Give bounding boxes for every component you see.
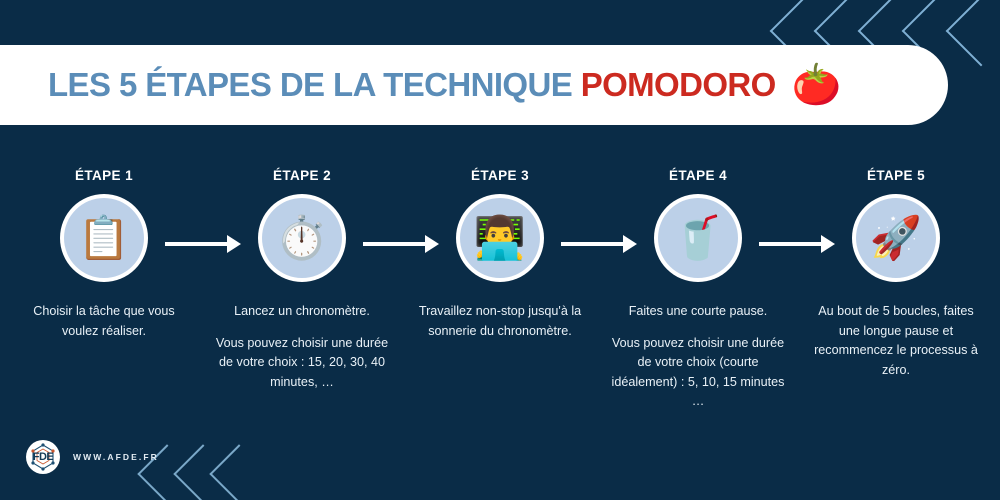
step-icon-circle: ⏱️	[258, 194, 346, 282]
arrow-right-icon	[561, 242, 624, 246]
step-body: Choisir la tâche que vous voulez réalise…	[16, 302, 192, 341]
step-item: ÉTAPE 2 ⏱️ Lancez un chronomètre. Vous p…	[203, 168, 401, 392]
footer: FDE WWW.AFDE.FR	[26, 440, 159, 474]
clipboard-icon: 📋	[78, 217, 130, 259]
afde-logo: FDE	[26, 440, 60, 474]
steps-row: ÉTAPE 1 📋 Choisir la tâche que vous voul…	[0, 168, 1000, 412]
step-text: Travaillez non-stop jusqu'à la sonnerie …	[412, 302, 588, 341]
step-label: ÉTAPE 5	[867, 168, 925, 183]
step-text: Faites une courte pause.	[610, 302, 786, 322]
soda-can-icon: 🥤	[672, 217, 724, 259]
page-title-main: LES 5 ÉTAPES DE LA TECHNIQUE	[48, 66, 581, 103]
logo-text: FDE	[33, 451, 54, 463]
step-item: ÉTAPE 5 🚀 Au bout de 5 boucles, faites u…	[797, 168, 995, 380]
infographic-canvas: LES 5 ÉTAPES DE LA TECHNIQUE POMODORO 🍅 …	[0, 0, 1000, 500]
step-icon-circle: 📋	[60, 194, 148, 282]
step-body: Au bout de 5 boucles, faites une longue …	[808, 302, 984, 380]
step-text: Au bout de 5 boucles, faites une longue …	[808, 302, 984, 380]
step-item: ÉTAPE 1 📋 Choisir la tâche que vous voul…	[5, 168, 203, 341]
step-item: ÉTAPE 3 👨‍💻 Travaillez non-stop jusqu'à …	[401, 168, 599, 341]
title-banner: LES 5 ÉTAPES DE LA TECHNIQUE POMODORO 🍅	[0, 45, 948, 125]
step-text: Vous pouvez choisir une durée de votre c…	[214, 334, 390, 393]
step-body: Lancez un chronomètre. Vous pouvez chois…	[214, 302, 390, 392]
step-icon-circle: 👨‍💻	[456, 194, 544, 282]
tomato-icon: 🍅	[792, 65, 842, 105]
arrow-right-icon	[363, 242, 426, 246]
chevron-left-icon	[948, 0, 1000, 80]
step-text: Choisir la tâche que vous voulez réalise…	[16, 302, 192, 341]
chevron-left-icon	[175, 442, 227, 500]
stopwatch-icon: ⏱️	[276, 217, 328, 259]
step-body: Travaillez non-stop jusqu'à la sonnerie …	[412, 302, 588, 341]
step-body: Faites une courte pause. Vous pouvez cho…	[610, 302, 786, 412]
arrow-right-icon	[759, 242, 822, 246]
page-title-accent: POMODORO	[581, 66, 776, 103]
step-icon-circle: 🥤	[654, 194, 742, 282]
step-label: ÉTAPE 4	[669, 168, 727, 183]
chevron-decoration-bottom-left	[155, 442, 263, 500]
rocket-icon: 🚀	[870, 217, 922, 259]
step-label: ÉTAPE 3	[471, 168, 529, 183]
person-laptop-icon: 👨‍💻	[474, 217, 526, 259]
chevron-left-icon	[211, 442, 263, 500]
page-title: LES 5 ÉTAPES DE LA TECHNIQUE POMODORO	[48, 66, 776, 104]
arrow-right-icon	[165, 242, 228, 246]
site-url: WWW.AFDE.FR	[73, 452, 159, 462]
step-text: Vous pouvez choisir une durée de votre c…	[610, 334, 786, 412]
step-label: ÉTAPE 2	[273, 168, 331, 183]
step-text: Lancez un chronomètre.	[214, 302, 390, 322]
step-label: ÉTAPE 1	[75, 168, 133, 183]
step-icon-circle: 🚀	[852, 194, 940, 282]
step-item: ÉTAPE 4 🥤 Faites une courte pause. Vous …	[599, 168, 797, 412]
